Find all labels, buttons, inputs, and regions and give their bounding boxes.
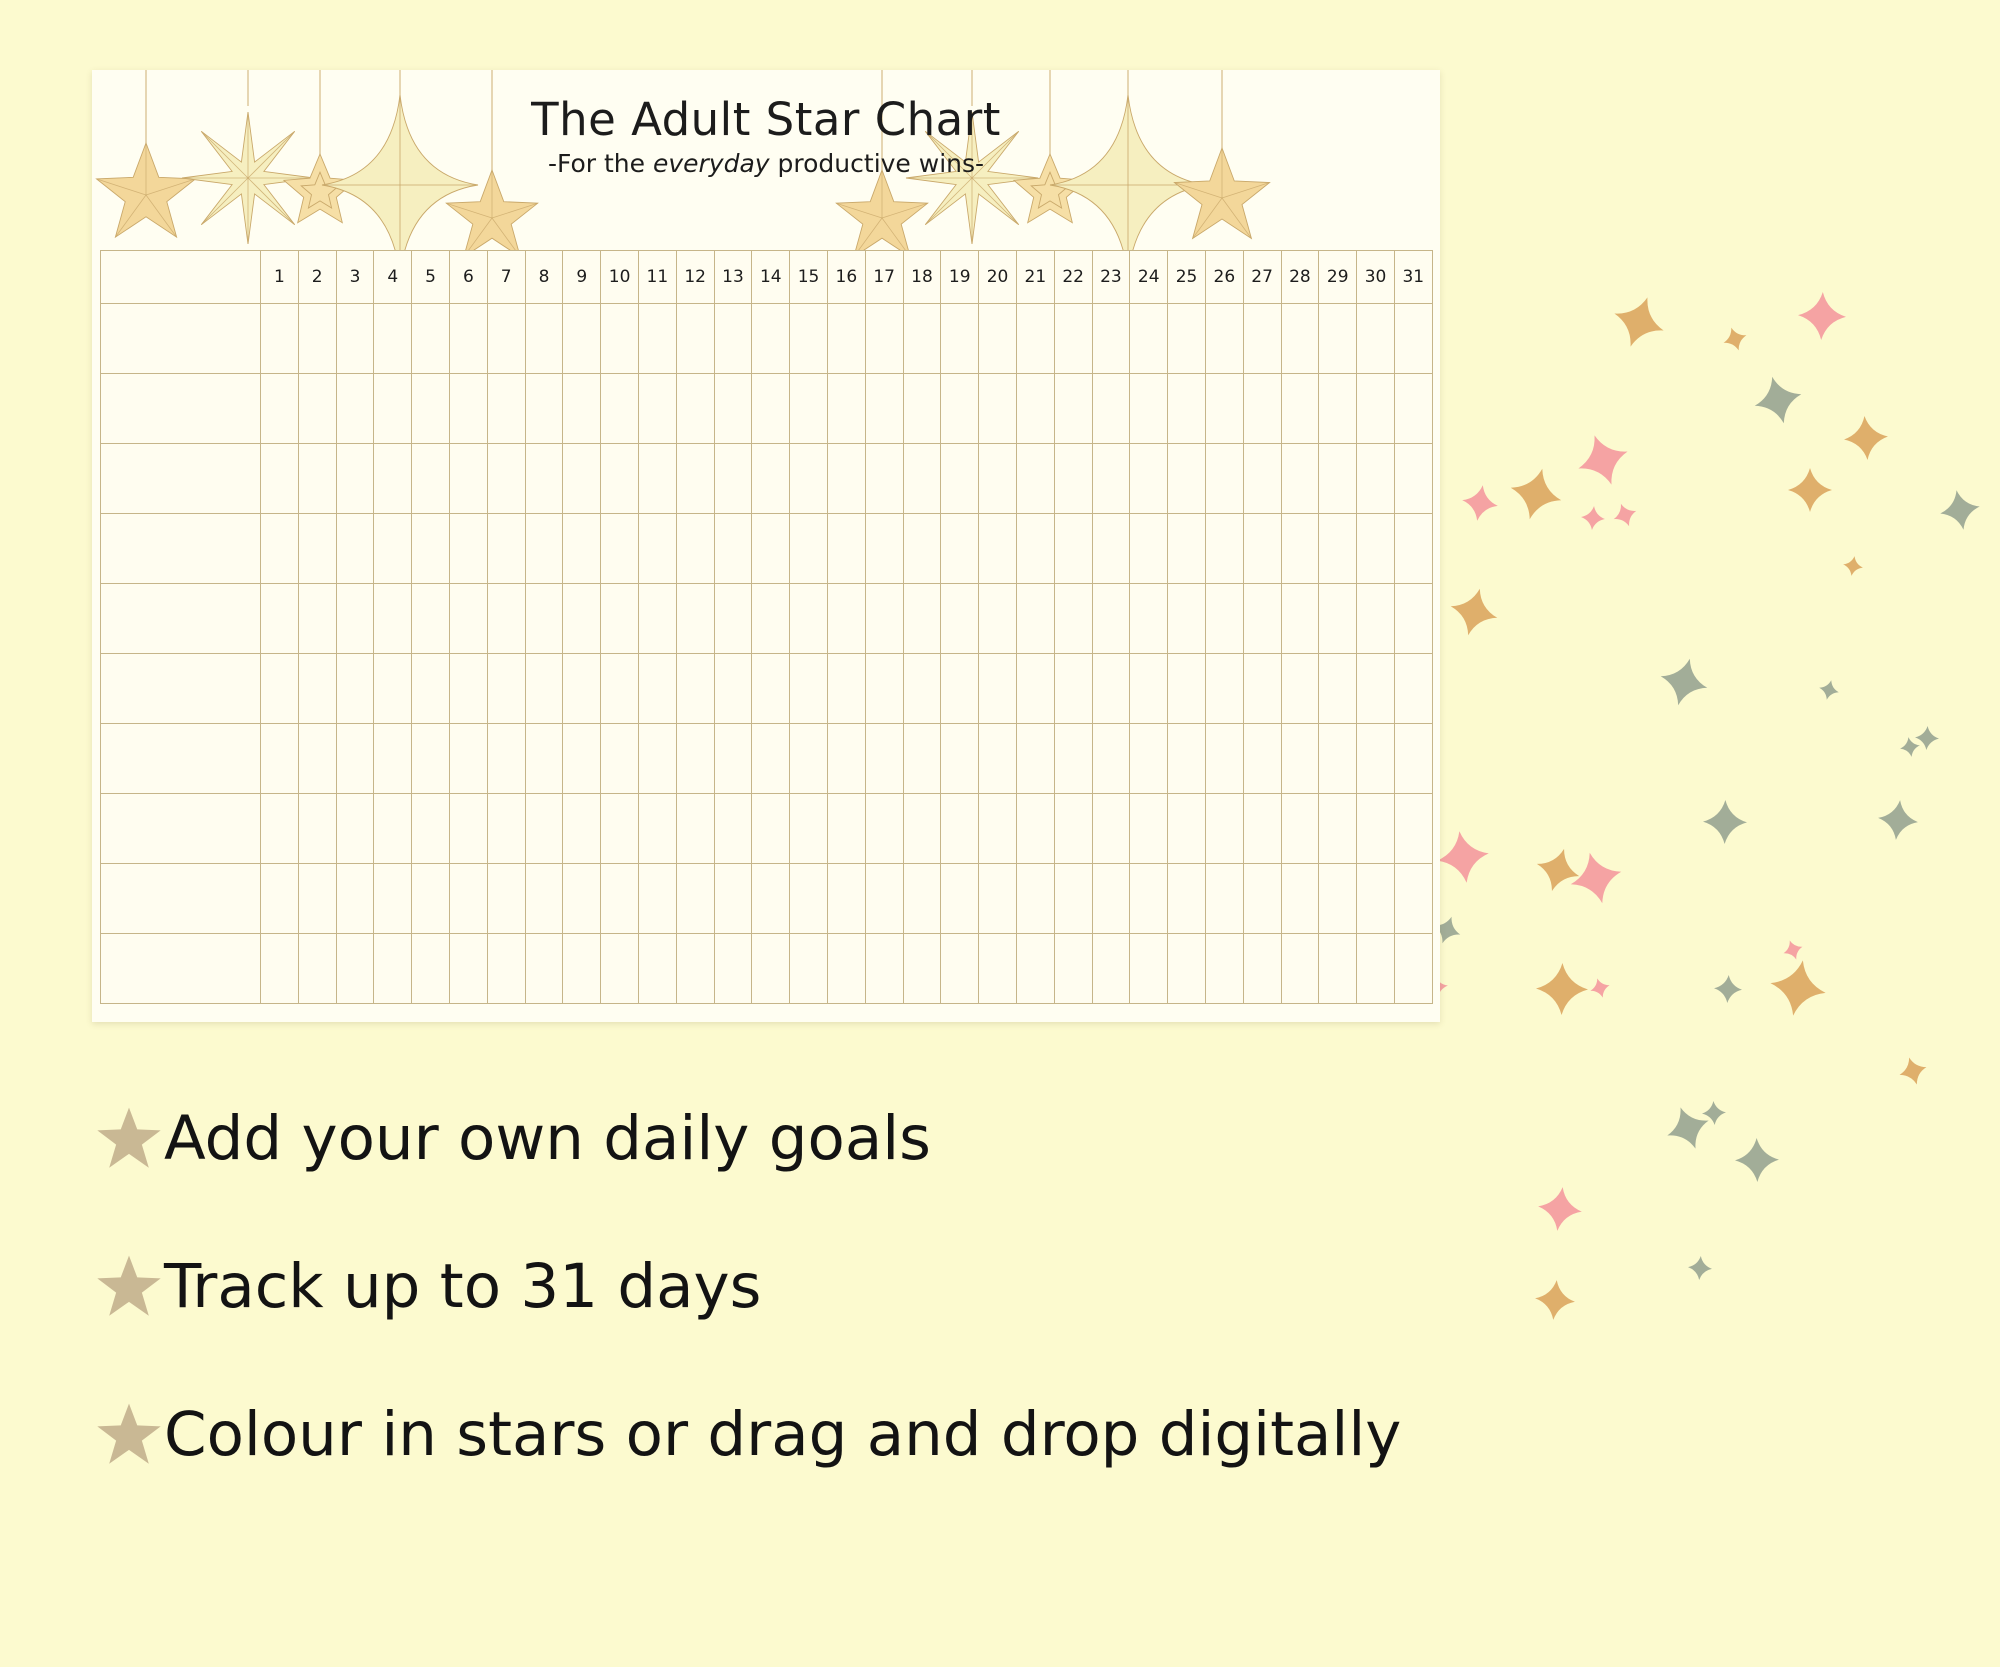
star-cell[interactable]	[525, 444, 563, 514]
star-cell[interactable]	[1243, 724, 1281, 794]
star-cell[interactable]	[1130, 724, 1168, 794]
star-cell[interactable]	[1357, 864, 1395, 934]
star-cell[interactable]	[1394, 654, 1432, 724]
star-cell[interactable]	[487, 514, 525, 584]
star-cell[interactable]	[487, 794, 525, 864]
star-cell[interactable]	[865, 724, 903, 794]
star-cell[interactable]	[1357, 584, 1395, 654]
star-cell[interactable]	[525, 374, 563, 444]
star-cell[interactable]	[336, 514, 374, 584]
star-cell[interactable]	[1016, 654, 1054, 724]
star-cell[interactable]	[1394, 374, 1432, 444]
star-cell[interactable]	[676, 654, 714, 724]
star-cell[interactable]	[298, 304, 336, 374]
star-cell[interactable]	[261, 934, 299, 1004]
goal-label-cell[interactable]	[101, 654, 261, 724]
star-cell[interactable]	[1319, 654, 1357, 724]
star-cell[interactable]	[1281, 794, 1319, 864]
star-cell[interactable]	[903, 724, 941, 794]
star-cell[interactable]	[714, 584, 752, 654]
star-cell[interactable]	[714, 514, 752, 584]
star-cell[interactable]	[979, 934, 1017, 1004]
star-cell[interactable]	[487, 374, 525, 444]
star-cell[interactable]	[1168, 794, 1206, 864]
star-cell[interactable]	[487, 724, 525, 794]
goal-label-cell[interactable]	[101, 374, 261, 444]
star-cell[interactable]	[601, 584, 639, 654]
star-cell[interactable]	[1394, 934, 1432, 1004]
star-cell[interactable]	[1243, 864, 1281, 934]
star-tracking-grid[interactable]: 1234567891011121314151617181920212223242…	[100, 250, 1433, 1004]
star-cell[interactable]	[1054, 374, 1092, 444]
star-cell[interactable]	[1243, 934, 1281, 1004]
star-cell[interactable]	[1394, 304, 1432, 374]
star-cell[interactable]	[979, 374, 1017, 444]
star-cell[interactable]	[1168, 934, 1206, 1004]
star-cell[interactable]	[1130, 794, 1168, 864]
star-cell[interactable]	[903, 514, 941, 584]
star-cell[interactable]	[979, 724, 1017, 794]
star-cell[interactable]	[941, 514, 979, 584]
star-cell[interactable]	[1281, 374, 1319, 444]
star-cell[interactable]	[1092, 374, 1130, 444]
star-cell[interactable]	[1319, 794, 1357, 864]
star-cell[interactable]	[1016, 934, 1054, 1004]
star-cell[interactable]	[412, 724, 450, 794]
star-cell[interactable]	[449, 864, 487, 934]
star-cell[interactable]	[1357, 934, 1395, 1004]
star-cell[interactable]	[865, 444, 903, 514]
star-cell[interactable]	[487, 864, 525, 934]
star-cell[interactable]	[865, 514, 903, 584]
star-cell[interactable]	[601, 444, 639, 514]
star-cell[interactable]	[676, 304, 714, 374]
star-cell[interactable]	[1016, 864, 1054, 934]
star-cell[interactable]	[1394, 514, 1432, 584]
star-cell[interactable]	[525, 794, 563, 864]
star-cell[interactable]	[827, 934, 865, 1004]
star-cell[interactable]	[298, 584, 336, 654]
star-cell[interactable]	[1394, 864, 1432, 934]
star-cell[interactable]	[525, 654, 563, 724]
star-cell[interactable]	[676, 724, 714, 794]
star-cell[interactable]	[865, 934, 903, 1004]
star-cell[interactable]	[563, 584, 601, 654]
star-cell[interactable]	[1130, 584, 1168, 654]
star-cell[interactable]	[865, 864, 903, 934]
star-cell[interactable]	[298, 934, 336, 1004]
star-cell[interactable]	[374, 724, 412, 794]
star-cell[interactable]	[1281, 934, 1319, 1004]
star-cell[interactable]	[298, 864, 336, 934]
star-cell[interactable]	[601, 514, 639, 584]
star-cell[interactable]	[1281, 444, 1319, 514]
star-cell[interactable]	[374, 584, 412, 654]
star-cell[interactable]	[790, 584, 828, 654]
star-cell[interactable]	[449, 584, 487, 654]
star-cell[interactable]	[1016, 304, 1054, 374]
star-cell[interactable]	[1205, 654, 1243, 724]
star-cell[interactable]	[261, 724, 299, 794]
star-cell[interactable]	[449, 724, 487, 794]
star-cell[interactable]	[638, 934, 676, 1004]
star-cell[interactable]	[601, 654, 639, 724]
star-cell[interactable]	[903, 584, 941, 654]
star-cell[interactable]	[374, 514, 412, 584]
star-cell[interactable]	[714, 374, 752, 444]
star-cell[interactable]	[449, 934, 487, 1004]
star-cell[interactable]	[1054, 514, 1092, 584]
goal-label-cell[interactable]	[101, 724, 261, 794]
star-cell[interactable]	[790, 864, 828, 934]
star-cell[interactable]	[1205, 374, 1243, 444]
star-cell[interactable]	[1394, 724, 1432, 794]
star-cell[interactable]	[979, 514, 1017, 584]
star-cell[interactable]	[941, 304, 979, 374]
star-cell[interactable]	[790, 514, 828, 584]
star-cell[interactable]	[941, 794, 979, 864]
star-cell[interactable]	[1016, 584, 1054, 654]
star-cell[interactable]	[1054, 864, 1092, 934]
star-cell[interactable]	[449, 374, 487, 444]
star-cell[interactable]	[374, 374, 412, 444]
goal-label-cell[interactable]	[101, 444, 261, 514]
star-cell[interactable]	[752, 514, 790, 584]
star-cell[interactable]	[563, 374, 601, 444]
star-cell[interactable]	[903, 794, 941, 864]
star-cell[interactable]	[1319, 724, 1357, 794]
star-cell[interactable]	[449, 514, 487, 584]
star-cell[interactable]	[714, 794, 752, 864]
goal-label-cell[interactable]	[101, 794, 261, 864]
star-cell[interactable]	[449, 444, 487, 514]
star-cell[interactable]	[903, 444, 941, 514]
star-cell[interactable]	[827, 304, 865, 374]
star-cell[interactable]	[374, 654, 412, 724]
goal-label-cell[interactable]	[101, 584, 261, 654]
star-cell[interactable]	[865, 374, 903, 444]
star-cell[interactable]	[1243, 374, 1281, 444]
star-cell[interactable]	[563, 934, 601, 1004]
star-cell[interactable]	[752, 584, 790, 654]
star-cell[interactable]	[979, 794, 1017, 864]
star-cell[interactable]	[1394, 444, 1432, 514]
star-cell[interactable]	[374, 864, 412, 934]
star-cell[interactable]	[601, 724, 639, 794]
star-cell[interactable]	[714, 654, 752, 724]
star-cell[interactable]	[676, 794, 714, 864]
star-cell[interactable]	[1054, 794, 1092, 864]
star-cell[interactable]	[374, 304, 412, 374]
star-cell[interactable]	[1281, 864, 1319, 934]
star-cell[interactable]	[1130, 304, 1168, 374]
star-cell[interactable]	[1319, 374, 1357, 444]
star-cell[interactable]	[1281, 654, 1319, 724]
star-cell[interactable]	[412, 794, 450, 864]
star-cell[interactable]	[298, 724, 336, 794]
star-cell[interactable]	[752, 444, 790, 514]
star-cell[interactable]	[1357, 654, 1395, 724]
star-cell[interactable]	[487, 654, 525, 724]
star-cell[interactable]	[1092, 934, 1130, 1004]
star-cell[interactable]	[525, 724, 563, 794]
star-cell[interactable]	[903, 654, 941, 724]
star-cell[interactable]	[1319, 584, 1357, 654]
star-cell[interactable]	[261, 304, 299, 374]
star-cell[interactable]	[903, 304, 941, 374]
star-cell[interactable]	[261, 444, 299, 514]
star-cell[interactable]	[1054, 654, 1092, 724]
star-cell[interactable]	[1243, 794, 1281, 864]
star-cell[interactable]	[865, 654, 903, 724]
star-cell[interactable]	[1054, 934, 1092, 1004]
star-cell[interactable]	[412, 514, 450, 584]
star-cell[interactable]	[563, 444, 601, 514]
goal-label-cell[interactable]	[101, 934, 261, 1004]
star-cell[interactable]	[487, 584, 525, 654]
star-cell[interactable]	[1319, 444, 1357, 514]
star-cell[interactable]	[525, 864, 563, 934]
star-cell[interactable]	[563, 864, 601, 934]
star-cell[interactable]	[714, 934, 752, 1004]
star-cell[interactable]	[790, 654, 828, 724]
star-cell[interactable]	[1205, 444, 1243, 514]
star-cell[interactable]	[1054, 444, 1092, 514]
star-cell[interactable]	[638, 584, 676, 654]
star-cell[interactable]	[941, 654, 979, 724]
star-cell[interactable]	[638, 304, 676, 374]
star-cell[interactable]	[1357, 304, 1395, 374]
star-cell[interactable]	[1281, 514, 1319, 584]
star-cell[interactable]	[676, 584, 714, 654]
star-cell[interactable]	[638, 864, 676, 934]
star-cell[interactable]	[298, 654, 336, 724]
star-cell[interactable]	[790, 444, 828, 514]
star-cell[interactable]	[525, 934, 563, 1004]
star-cell[interactable]	[336, 934, 374, 1004]
star-cell[interactable]	[1319, 934, 1357, 1004]
star-cell[interactable]	[1205, 864, 1243, 934]
star-cell[interactable]	[1130, 374, 1168, 444]
star-cell[interactable]	[638, 724, 676, 794]
star-cell[interactable]	[941, 724, 979, 794]
star-cell[interactable]	[449, 654, 487, 724]
star-cell[interactable]	[638, 444, 676, 514]
star-cell[interactable]	[752, 724, 790, 794]
star-cell[interactable]	[1168, 584, 1206, 654]
star-cell[interactable]	[563, 794, 601, 864]
star-cell[interactable]	[298, 514, 336, 584]
star-cell[interactable]	[298, 794, 336, 864]
star-cell[interactable]	[336, 444, 374, 514]
star-cell[interactable]	[941, 584, 979, 654]
star-cell[interactable]	[941, 444, 979, 514]
star-cell[interactable]	[1016, 724, 1054, 794]
star-cell[interactable]	[1281, 724, 1319, 794]
star-cell[interactable]	[865, 304, 903, 374]
star-cell[interactable]	[714, 304, 752, 374]
star-cell[interactable]	[336, 724, 374, 794]
star-cell[interactable]	[1205, 584, 1243, 654]
star-cell[interactable]	[1016, 374, 1054, 444]
star-cell[interactable]	[412, 584, 450, 654]
star-cell[interactable]	[865, 794, 903, 864]
star-cell[interactable]	[676, 374, 714, 444]
star-cell[interactable]	[903, 934, 941, 1004]
star-cell[interactable]	[790, 934, 828, 1004]
star-cell[interactable]	[261, 514, 299, 584]
star-cell[interactable]	[1168, 724, 1206, 794]
star-cell[interactable]	[827, 794, 865, 864]
star-cell[interactable]	[1168, 444, 1206, 514]
star-cell[interactable]	[1319, 304, 1357, 374]
star-cell[interactable]	[752, 934, 790, 1004]
star-cell[interactable]	[487, 444, 525, 514]
star-cell[interactable]	[487, 304, 525, 374]
star-cell[interactable]	[979, 654, 1017, 724]
star-cell[interactable]	[601, 304, 639, 374]
star-cell[interactable]	[827, 374, 865, 444]
star-cell[interactable]	[525, 584, 563, 654]
star-cell[interactable]	[1130, 654, 1168, 724]
star-cell[interactable]	[714, 444, 752, 514]
star-cell[interactable]	[1243, 654, 1281, 724]
star-cell[interactable]	[412, 304, 450, 374]
star-cell[interactable]	[1205, 304, 1243, 374]
star-cell[interactable]	[487, 934, 525, 1004]
star-cell[interactable]	[298, 444, 336, 514]
star-cell[interactable]	[827, 444, 865, 514]
star-cell[interactable]	[638, 794, 676, 864]
star-cell[interactable]	[336, 864, 374, 934]
star-cell[interactable]	[336, 584, 374, 654]
star-cell[interactable]	[261, 654, 299, 724]
star-cell[interactable]	[1281, 584, 1319, 654]
star-cell[interactable]	[525, 514, 563, 584]
star-cell[interactable]	[714, 724, 752, 794]
star-cell[interactable]	[1205, 724, 1243, 794]
star-cell[interactable]	[412, 374, 450, 444]
star-cell[interactable]	[979, 444, 1017, 514]
star-cell[interactable]	[1205, 794, 1243, 864]
star-cell[interactable]	[752, 374, 790, 444]
star-cell[interactable]	[1168, 374, 1206, 444]
star-cell[interactable]	[752, 794, 790, 864]
star-cell[interactable]	[1394, 584, 1432, 654]
star-cell[interactable]	[525, 304, 563, 374]
star-cell[interactable]	[1394, 794, 1432, 864]
star-cell[interactable]	[1130, 444, 1168, 514]
star-cell[interactable]	[1092, 864, 1130, 934]
star-cell[interactable]	[1357, 444, 1395, 514]
star-cell[interactable]	[638, 654, 676, 724]
star-cell[interactable]	[601, 794, 639, 864]
star-cell[interactable]	[752, 864, 790, 934]
star-cell[interactable]	[1357, 724, 1395, 794]
star-cell[interactable]	[676, 934, 714, 1004]
star-cell[interactable]	[979, 584, 1017, 654]
goal-label-cell[interactable]	[101, 514, 261, 584]
star-cell[interactable]	[790, 374, 828, 444]
star-cell[interactable]	[1243, 584, 1281, 654]
star-cell[interactable]	[601, 374, 639, 444]
star-cell[interactable]	[676, 514, 714, 584]
star-cell[interactable]	[1168, 304, 1206, 374]
star-cell[interactable]	[374, 794, 412, 864]
star-cell[interactable]	[1281, 304, 1319, 374]
star-cell[interactable]	[941, 864, 979, 934]
star-cell[interactable]	[336, 304, 374, 374]
star-cell[interactable]	[790, 304, 828, 374]
star-cell[interactable]	[374, 934, 412, 1004]
star-cell[interactable]	[827, 724, 865, 794]
star-cell[interactable]	[1092, 654, 1130, 724]
star-cell[interactable]	[790, 794, 828, 864]
star-cell[interactable]	[676, 444, 714, 514]
star-cell[interactable]	[1130, 864, 1168, 934]
star-cell[interactable]	[752, 304, 790, 374]
star-cell[interactable]	[1130, 514, 1168, 584]
star-cell[interactable]	[449, 794, 487, 864]
star-cell[interactable]	[1016, 794, 1054, 864]
star-cell[interactable]	[261, 584, 299, 654]
star-cell[interactable]	[1016, 514, 1054, 584]
star-cell[interactable]	[903, 864, 941, 934]
star-cell[interactable]	[1054, 724, 1092, 794]
star-cell[interactable]	[336, 654, 374, 724]
star-cell[interactable]	[412, 654, 450, 724]
star-cell[interactable]	[1130, 934, 1168, 1004]
star-cell[interactable]	[412, 864, 450, 934]
star-cell[interactable]	[563, 654, 601, 724]
star-cell[interactable]	[412, 444, 450, 514]
star-cell[interactable]	[1357, 374, 1395, 444]
star-cell[interactable]	[1016, 444, 1054, 514]
star-cell[interactable]	[979, 304, 1017, 374]
star-cell[interactable]	[1243, 514, 1281, 584]
star-cell[interactable]	[714, 864, 752, 934]
star-cell[interactable]	[563, 304, 601, 374]
star-cell[interactable]	[979, 864, 1017, 934]
star-cell[interactable]	[1168, 864, 1206, 934]
star-cell[interactable]	[1357, 794, 1395, 864]
star-cell[interactable]	[941, 934, 979, 1004]
star-cell[interactable]	[1054, 584, 1092, 654]
star-cell[interactable]	[1243, 304, 1281, 374]
star-cell[interactable]	[827, 584, 865, 654]
star-cell[interactable]	[827, 514, 865, 584]
star-cell[interactable]	[903, 374, 941, 444]
star-cell[interactable]	[563, 724, 601, 794]
star-cell[interactable]	[1357, 514, 1395, 584]
star-cell[interactable]	[261, 374, 299, 444]
star-cell[interactable]	[1092, 444, 1130, 514]
star-cell[interactable]	[827, 864, 865, 934]
star-cell[interactable]	[336, 794, 374, 864]
star-cell[interactable]	[1205, 514, 1243, 584]
star-cell[interactable]	[1319, 864, 1357, 934]
star-cell[interactable]	[1243, 444, 1281, 514]
goal-label-cell[interactable]	[101, 304, 261, 374]
star-cell[interactable]	[1092, 304, 1130, 374]
star-cell[interactable]	[1092, 514, 1130, 584]
goal-label-cell[interactable]	[101, 864, 261, 934]
star-cell[interactable]	[601, 934, 639, 1004]
star-cell[interactable]	[1092, 724, 1130, 794]
star-cell[interactable]	[449, 304, 487, 374]
star-cell[interactable]	[298, 374, 336, 444]
star-cell[interactable]	[261, 794, 299, 864]
